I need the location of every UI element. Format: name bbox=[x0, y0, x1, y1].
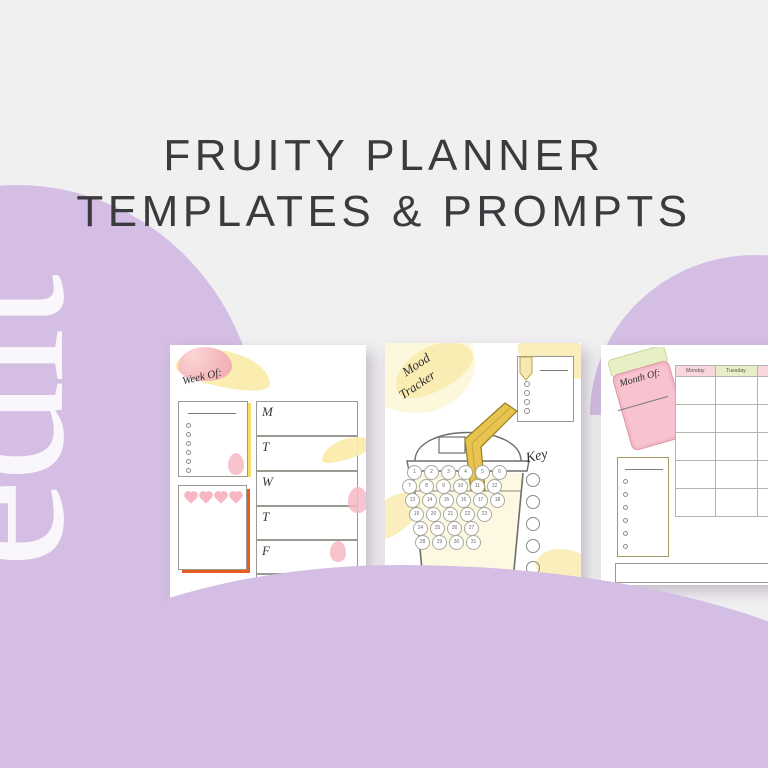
mood-bead-day-17[interactable]: 17 bbox=[473, 493, 488, 508]
mood-bead-day-2[interactable]: 2 bbox=[424, 465, 439, 480]
mood-bead-day-9[interactable]: 9 bbox=[436, 479, 451, 494]
mood-bead-day-16[interactable]: 16 bbox=[456, 493, 471, 508]
mood-bead-day-3[interactable]: 3 bbox=[441, 465, 456, 480]
key-circle[interactable] bbox=[526, 495, 540, 509]
strawberry-accent bbox=[348, 487, 366, 513]
calendar-header-tuesday: Tuesday bbox=[715, 366, 757, 377]
mood-bead-day-24[interactable]: 24 bbox=[413, 521, 428, 536]
mood-bead-day-5[interactable]: 5 bbox=[475, 465, 490, 480]
mood-bead-day-8[interactable]: 8 bbox=[419, 479, 434, 494]
title-line-1: FRUITY PLANNER bbox=[0, 128, 768, 184]
monthly-notes-box[interactable] bbox=[615, 563, 768, 583]
calendar-day-cell[interactable] bbox=[715, 405, 757, 433]
day-initial-monday: M bbox=[262, 404, 273, 420]
calendar-day-cell[interactable] bbox=[676, 461, 716, 489]
mood-bead-day-15[interactable]: 15 bbox=[439, 493, 454, 508]
calendar-header-monday: Monday bbox=[676, 366, 716, 377]
mood-bead-day-12[interactable]: 12 bbox=[487, 479, 502, 494]
monthly-checklist-circle[interactable] bbox=[623, 492, 628, 497]
mood-bead-day-10[interactable]: 10 bbox=[453, 479, 468, 494]
checklist-circle[interactable] bbox=[186, 423, 191, 428]
mood-bead-day-4[interactable]: 4 bbox=[458, 465, 473, 480]
calendar-day-cell[interactable] bbox=[757, 405, 768, 433]
mood-bead-day-6[interactable]: 6 bbox=[492, 465, 507, 480]
key-circle[interactable] bbox=[526, 473, 540, 487]
checklist-circle[interactable] bbox=[186, 441, 191, 446]
calendar-day-cell[interactable] bbox=[715, 377, 757, 405]
calendar-day-cell[interactable] bbox=[715, 489, 757, 517]
page-title: FRUITY PLANNER TEMPLATES & PROMPTS bbox=[0, 128, 768, 241]
calendar-day-cell[interactable] bbox=[757, 433, 768, 461]
title-line-2: TEMPLATES & PROMPTS bbox=[0, 184, 768, 240]
mood-note-circle[interactable] bbox=[524, 381, 530, 387]
day-row-thursday[interactable] bbox=[256, 506, 358, 540]
mood-bead-day-7[interactable]: 7 bbox=[402, 479, 417, 494]
monthly-checklist-circle[interactable] bbox=[623, 518, 628, 523]
monthly-checklist-circle[interactable] bbox=[623, 531, 628, 536]
calendar-day-cell[interactable] bbox=[676, 405, 716, 433]
monthly-checklist-circle[interactable] bbox=[623, 505, 628, 510]
key-circle[interactable] bbox=[526, 517, 540, 531]
day-initial-tuesday: T bbox=[262, 439, 269, 455]
checklist-circle[interactable] bbox=[186, 450, 191, 455]
mood-bead-day-20[interactable]: 20 bbox=[426, 507, 441, 522]
key-label: Key bbox=[525, 447, 550, 467]
mood-bead-day-29[interactable]: 29 bbox=[432, 535, 447, 550]
day-initial-wednesday: W bbox=[262, 474, 273, 490]
mood-bead-day-27[interactable]: 27 bbox=[464, 521, 479, 536]
watermelon-slice bbox=[690, 530, 725, 565]
strawberry-accent bbox=[228, 453, 244, 475]
weekly-planner-page[interactable]: Week Of: M T W T F S S bbox=[170, 345, 366, 601]
calendar-week-row bbox=[676, 433, 768, 461]
mood-bead-day-28[interactable]: 28 bbox=[415, 535, 430, 550]
calendar-week-row bbox=[676, 377, 768, 405]
monthly-calendar-page[interactable]: Month Of: Monday Tuesday Wednesday bbox=[601, 345, 768, 585]
mood-bead-day-14[interactable]: 14 bbox=[422, 493, 437, 508]
checklist-title-rule bbox=[188, 413, 236, 414]
mood-bead-day-18[interactable]: 18 bbox=[490, 493, 505, 508]
calendar-day-cell[interactable] bbox=[757, 489, 768, 517]
edit-watermark: edit bbox=[0, 276, 88, 568]
mood-bead-day-13[interactable]: 13 bbox=[405, 493, 420, 508]
mood-bead-day-25[interactable]: 25 bbox=[430, 521, 445, 536]
strawberry-accent bbox=[330, 541, 346, 562]
calendar-day-cell[interactable] bbox=[757, 377, 768, 405]
mood-note-rule bbox=[540, 370, 568, 371]
checklist-circle[interactable] bbox=[186, 468, 191, 473]
mood-bead-day-26[interactable]: 26 bbox=[447, 521, 462, 536]
bookmark-ribbon-icon bbox=[519, 356, 533, 382]
calendar-week-row bbox=[676, 405, 768, 433]
checklist-circle[interactable] bbox=[186, 459, 191, 464]
mood-bead-day-30[interactable]: 30 bbox=[449, 535, 464, 550]
mood-bead-day-1[interactable]: 1 bbox=[407, 465, 422, 480]
checklist-circle[interactable] bbox=[186, 432, 191, 437]
monthly-checklist-circle[interactable] bbox=[623, 479, 628, 484]
calendar-header-wednesday: Wednesday bbox=[757, 366, 768, 377]
monthly-checklist-rule bbox=[625, 469, 663, 470]
mood-bead-day-31[interactable]: 31 bbox=[466, 535, 481, 550]
mood-bead-day-22[interactable]: 22 bbox=[460, 507, 475, 522]
poster-canvas: FRUITY PLANNER TEMPLATES & PROMPTS Week … bbox=[0, 0, 768, 768]
key-circle[interactable] bbox=[526, 539, 540, 553]
mood-bead-day-21[interactable]: 21 bbox=[443, 507, 458, 522]
monthly-checklist-circle[interactable] bbox=[623, 544, 628, 549]
calendar-header-row: Monday Tuesday Wednesday bbox=[676, 366, 768, 377]
mood-bead-day-23[interactable]: 23 bbox=[477, 507, 492, 522]
day-initial-friday: F bbox=[262, 543, 270, 559]
day-initial-thursday: T bbox=[262, 509, 269, 525]
mood-bead-day-11[interactable]: 11 bbox=[470, 479, 485, 494]
mood-bead-day-19[interactable]: 19 bbox=[409, 507, 424, 522]
